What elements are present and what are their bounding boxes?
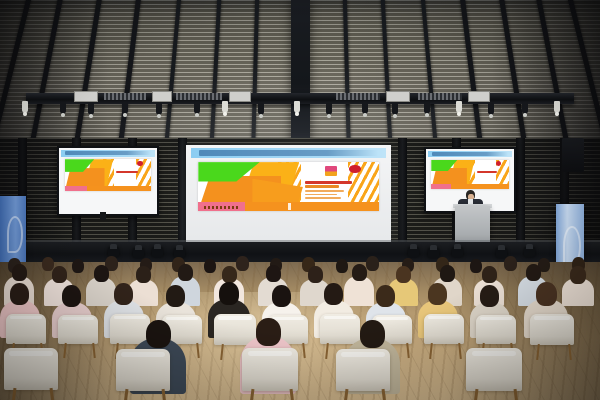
- attendee-head: [526, 264, 541, 281]
- attendee-head: [482, 266, 497, 283]
- attendee-head: [178, 264, 193, 281]
- chair[interactable]: [116, 349, 170, 391]
- attendee-head: [10, 283, 29, 305]
- truss-module: [152, 91, 172, 102]
- banner-bottom-bar-pink: [431, 184, 451, 189]
- truss-bar: [104, 93, 146, 100]
- stage-lamp: [294, 101, 300, 113]
- conference-hall-photo: [0, 0, 600, 400]
- stage-lamp: [88, 103, 94, 115]
- attendee-head: [360, 320, 385, 348]
- left-monitor: [57, 146, 159, 216]
- attendee-head: [308, 266, 323, 283]
- chair[interactable]: [466, 348, 522, 391]
- attendee-head: [376, 285, 395, 307]
- attendee-head: [396, 266, 411, 283]
- banner-text-line: [305, 190, 345, 192]
- banner-headline: [477, 171, 497, 173]
- attendee-head: [428, 283, 447, 305]
- attendee-head: [352, 264, 367, 281]
- chair[interactable]: [4, 348, 58, 390]
- banner-logo-icon: [7, 216, 23, 253]
- left-monitor-slide: [59, 148, 157, 214]
- slide-banner-graphic: [65, 159, 151, 191]
- attendee-head: [222, 266, 237, 283]
- stage-lamp: [22, 101, 28, 113]
- attendee-head: [114, 283, 133, 305]
- stage-lamp: [522, 102, 528, 114]
- slide-title-text: [432, 152, 509, 156]
- attendee-head: [136, 266, 151, 283]
- attendee-head: [480, 285, 499, 307]
- stage-lamp: [456, 101, 462, 113]
- attendee-head: [266, 265, 281, 282]
- attendee-head: [440, 265, 455, 282]
- lighting-truss: [26, 93, 574, 104]
- attendee-head: [219, 282, 239, 305]
- slide-banner-graphic: [198, 162, 378, 210]
- truss-bar: [336, 93, 380, 100]
- truss-module: [468, 91, 490, 102]
- attendee-head: [256, 318, 281, 346]
- chair-row-front: [0, 346, 600, 400]
- truss-bar: [176, 93, 222, 100]
- stage-lamp: [156, 103, 162, 115]
- stage-lamp: [122, 102, 128, 114]
- stage-lamp: [222, 101, 228, 113]
- banner-bottom-text: [204, 206, 240, 209]
- main-slide: [186, 145, 391, 246]
- attendee-head: [52, 266, 67, 283]
- attendee-head: [146, 320, 171, 348]
- attendee-head: [166, 285, 185, 307]
- attendee-head: [324, 283, 343, 305]
- banner-divider-mark: [288, 203, 292, 209]
- stage-lamp: [392, 103, 398, 115]
- attendee-head: [536, 282, 557, 306]
- anniversary-badge-icon: [349, 165, 361, 173]
- anniversary-badge-icon: [137, 161, 143, 166]
- stage-lamp: [488, 103, 494, 115]
- attendee-head: [94, 265, 109, 282]
- banner-subhead: [305, 185, 339, 187]
- slide-title-bar: [428, 151, 512, 157]
- stage-lamp: [554, 101, 560, 113]
- banner-bottom-bar-pink: [65, 186, 87, 191]
- left-monitor-stand: [100, 212, 106, 220]
- truss-module: [229, 91, 251, 102]
- truss-module: [386, 91, 410, 102]
- stage-lamp: [362, 102, 368, 114]
- stage-lamp: [194, 102, 200, 114]
- attendee-head: [272, 285, 291, 307]
- slide-title-bar: [191, 148, 386, 158]
- company-logo-icon: [325, 166, 338, 176]
- banner-text-line: [305, 197, 341, 199]
- loudspeaker-box: [562, 138, 584, 172]
- stage-lamp: [258, 103, 264, 115]
- attendee-head: [62, 285, 81, 307]
- truss-bar: [418, 93, 462, 100]
- slide-title-text: [199, 150, 378, 156]
- attendee-head: [12, 264, 27, 281]
- main-projection-screen: [186, 145, 391, 246]
- truss-module: [74, 91, 98, 102]
- stage-lamp: [60, 102, 66, 114]
- stage-lamp: [326, 103, 332, 115]
- chair[interactable]: [336, 349, 390, 391]
- chair[interactable]: [242, 348, 298, 391]
- slide-title-text: [65, 151, 151, 155]
- slide-banner-graphic: [431, 160, 508, 190]
- stage-lamp: [424, 102, 430, 114]
- banner-headline: [305, 181, 352, 184]
- slide-title-bar: [61, 150, 154, 157]
- ceiling-center-column: [291, 0, 310, 152]
